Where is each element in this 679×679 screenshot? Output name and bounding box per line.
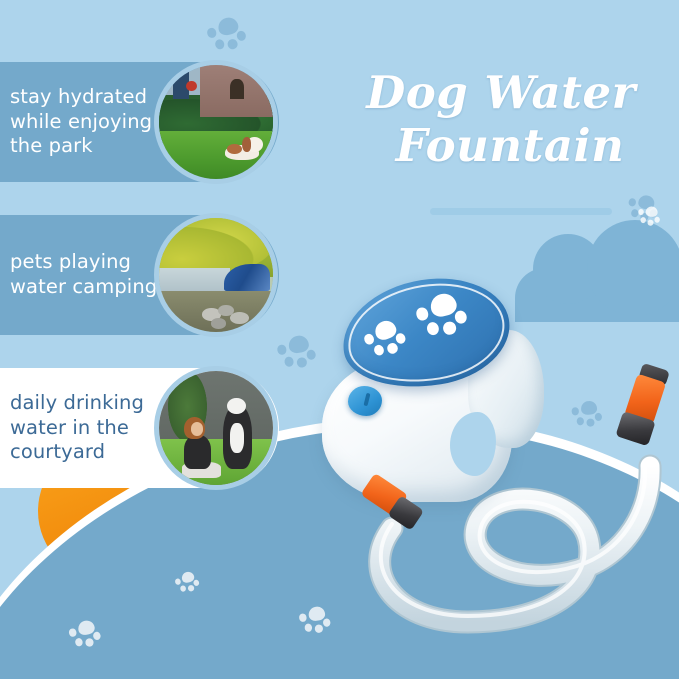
feature-photo-courtyard xyxy=(154,366,278,490)
feature-photo-camping xyxy=(154,213,278,337)
feature-photo-park xyxy=(154,60,278,184)
water-valve-knob[interactable] xyxy=(348,386,382,416)
title-line-2: Fountain xyxy=(336,119,666,172)
poster-title: Dog Water Fountain xyxy=(336,66,666,172)
product-poster: Dog Water Fountain stay hydrated while e… xyxy=(0,0,679,679)
product-image xyxy=(300,270,679,650)
fountain-body-notch xyxy=(450,412,496,476)
title-divider xyxy=(430,208,612,215)
paw-print-icon xyxy=(635,201,664,230)
title-line-1: Dog Water xyxy=(366,66,636,119)
paw-print-icon xyxy=(65,613,108,656)
